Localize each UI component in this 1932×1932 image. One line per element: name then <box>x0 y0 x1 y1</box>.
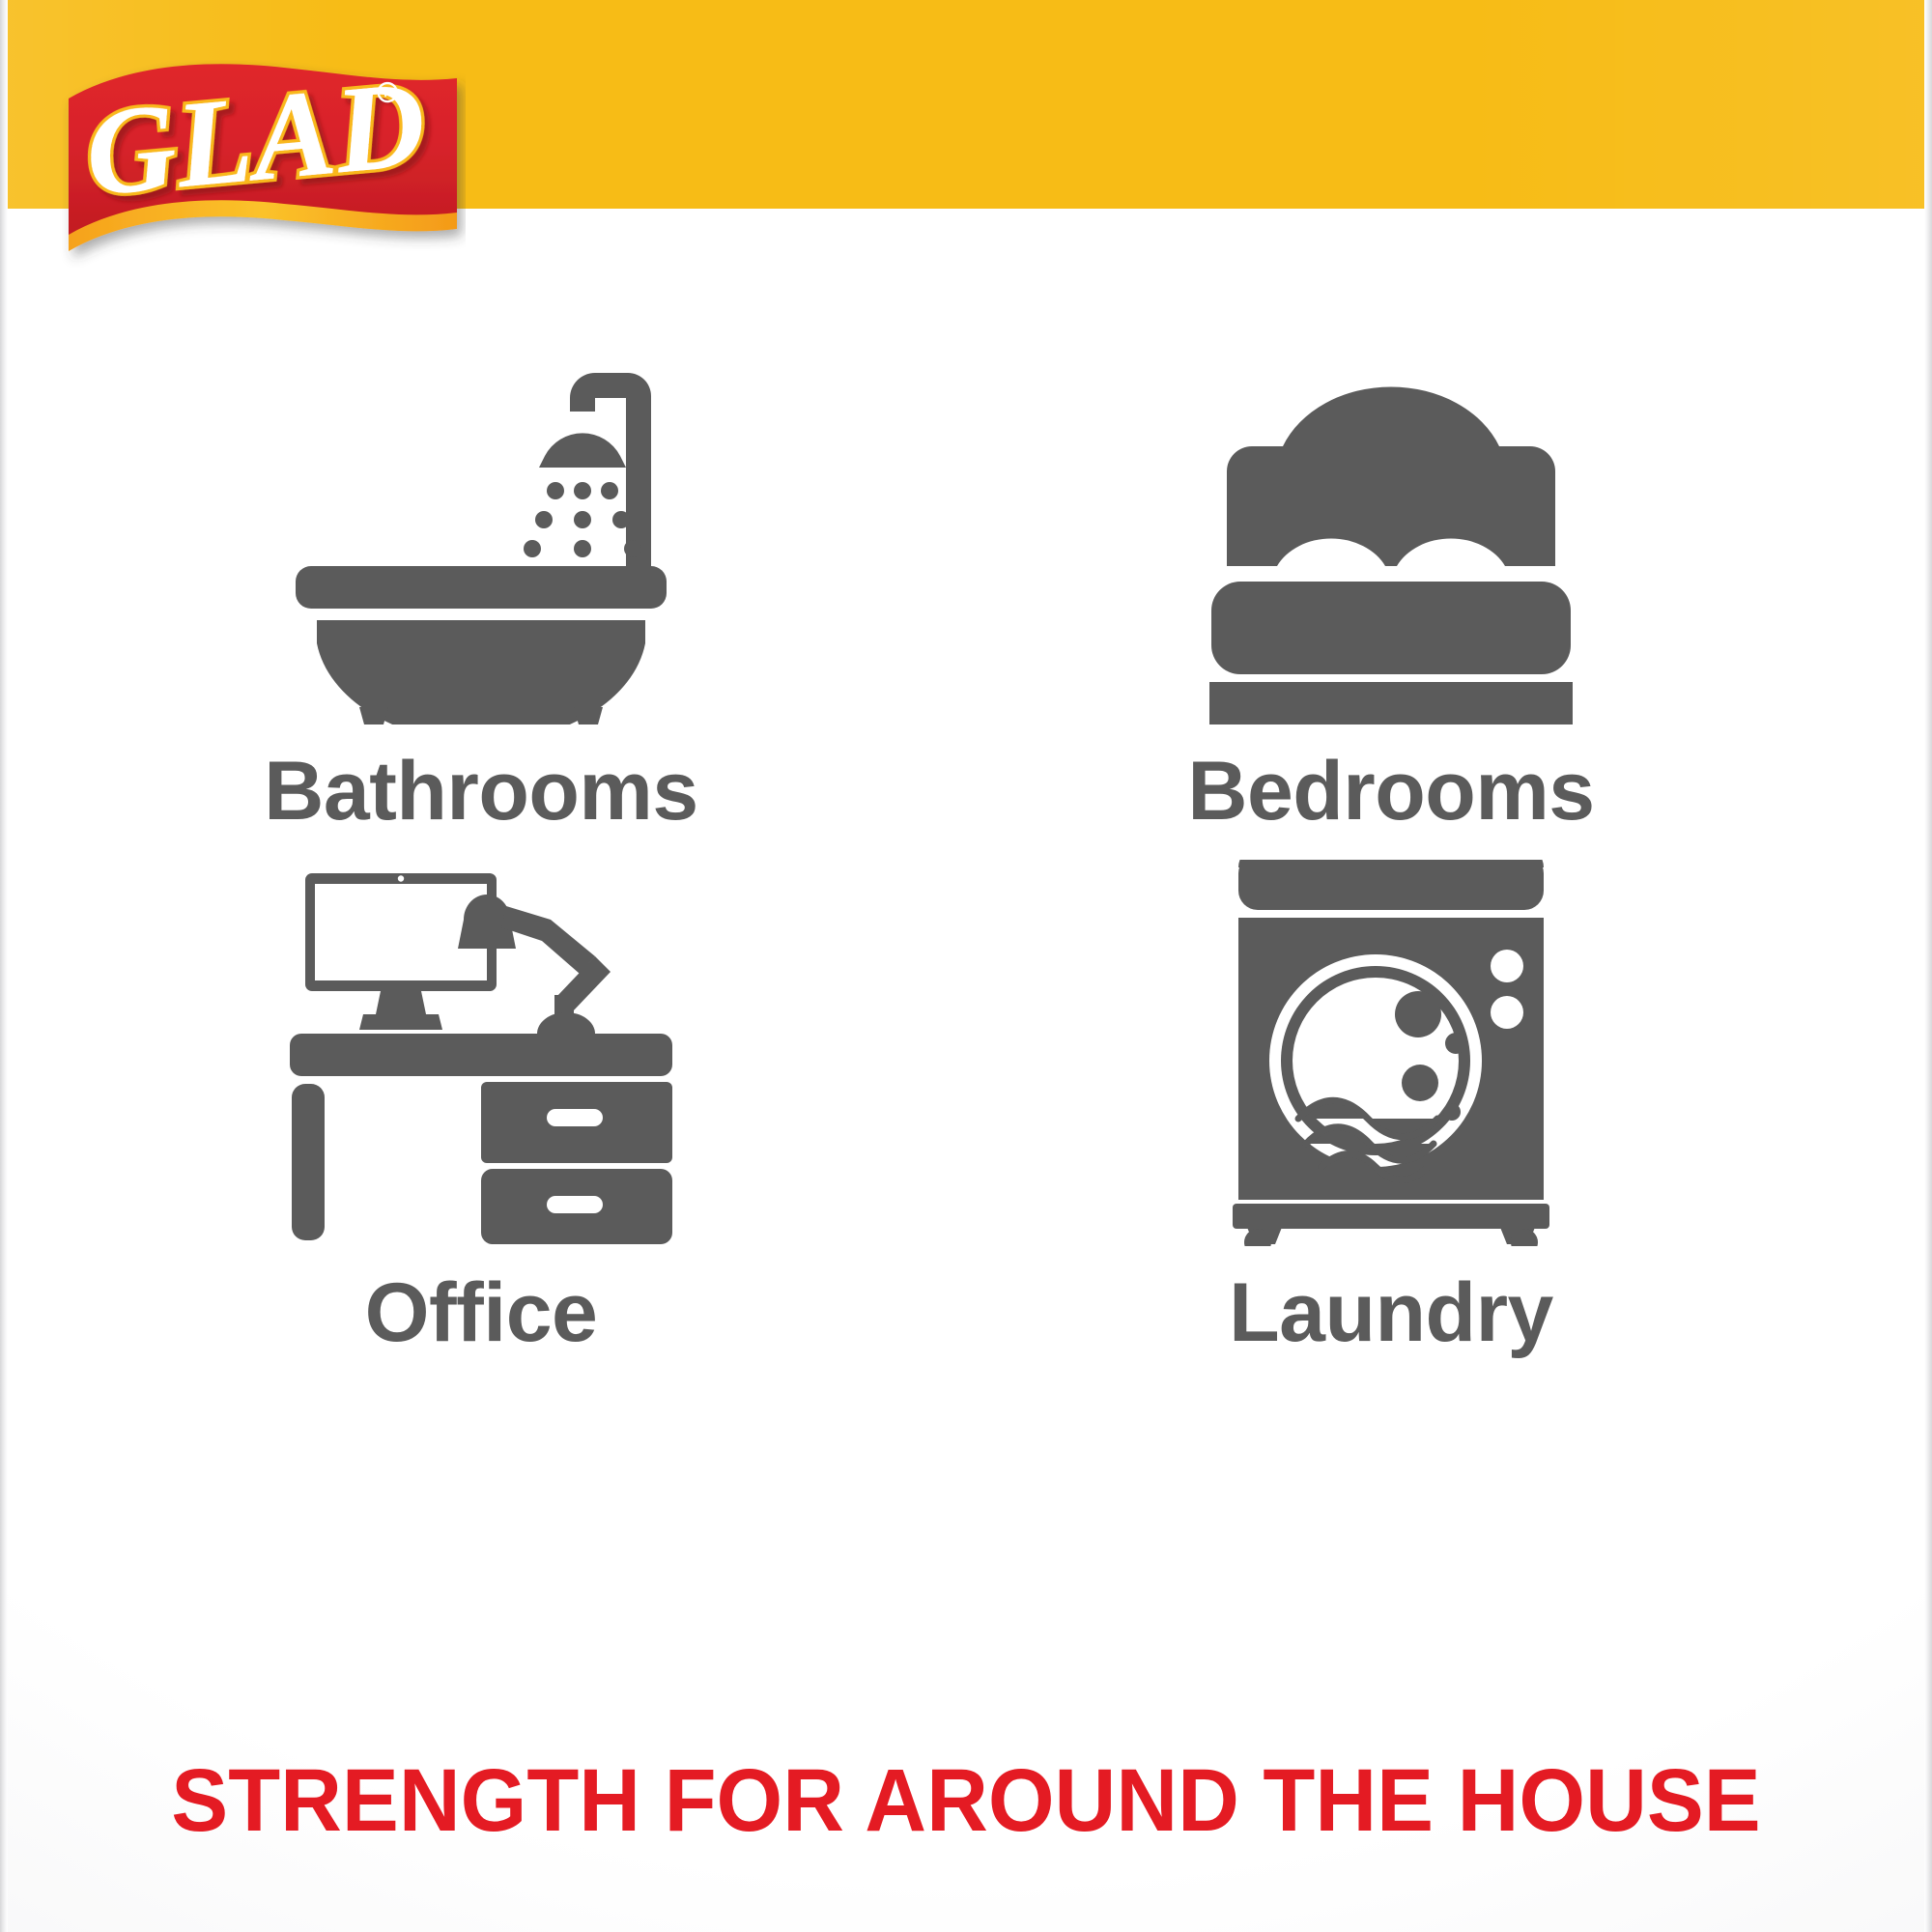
tile-office: Office <box>114 831 848 1354</box>
tile-label-bedrooms: Bedrooms <box>1024 750 1758 833</box>
washing-machine-icon-wrap <box>1024 831 1758 1246</box>
washing-machine-icon <box>1198 860 1584 1246</box>
tile-laundry: Laundry <box>1024 831 1758 1354</box>
room-icon-grid: Bathrooms <box>0 290 1932 1690</box>
product-feature-graphic: GLAD GLAD R <box>0 0 1932 1932</box>
tile-label-office: Office <box>114 1271 848 1354</box>
desk-monitor-lamp-icon-wrap <box>114 831 848 1246</box>
svg-text:R: R <box>384 88 392 100</box>
bathtub-shower-icon <box>288 338 674 724</box>
glad-logo: GLAD GLAD R <box>60 60 466 268</box>
bed-icon-wrap <box>1024 309 1758 724</box>
tile-label-laundry: Laundry <box>1024 1271 1758 1354</box>
desk-monitor-lamp-icon <box>288 860 674 1246</box>
bed-icon <box>1198 338 1584 724</box>
tile-bedrooms: Bedrooms <box>1024 309 1758 833</box>
bathtub-shower-icon-wrap <box>114 309 848 724</box>
tile-label-bathrooms: Bathrooms <box>114 750 848 833</box>
headline-strength-for-around-the-house: STRENGTH FOR AROUND THE HOUSE <box>39 1756 1893 1845</box>
tile-bathrooms: Bathrooms <box>114 309 848 833</box>
